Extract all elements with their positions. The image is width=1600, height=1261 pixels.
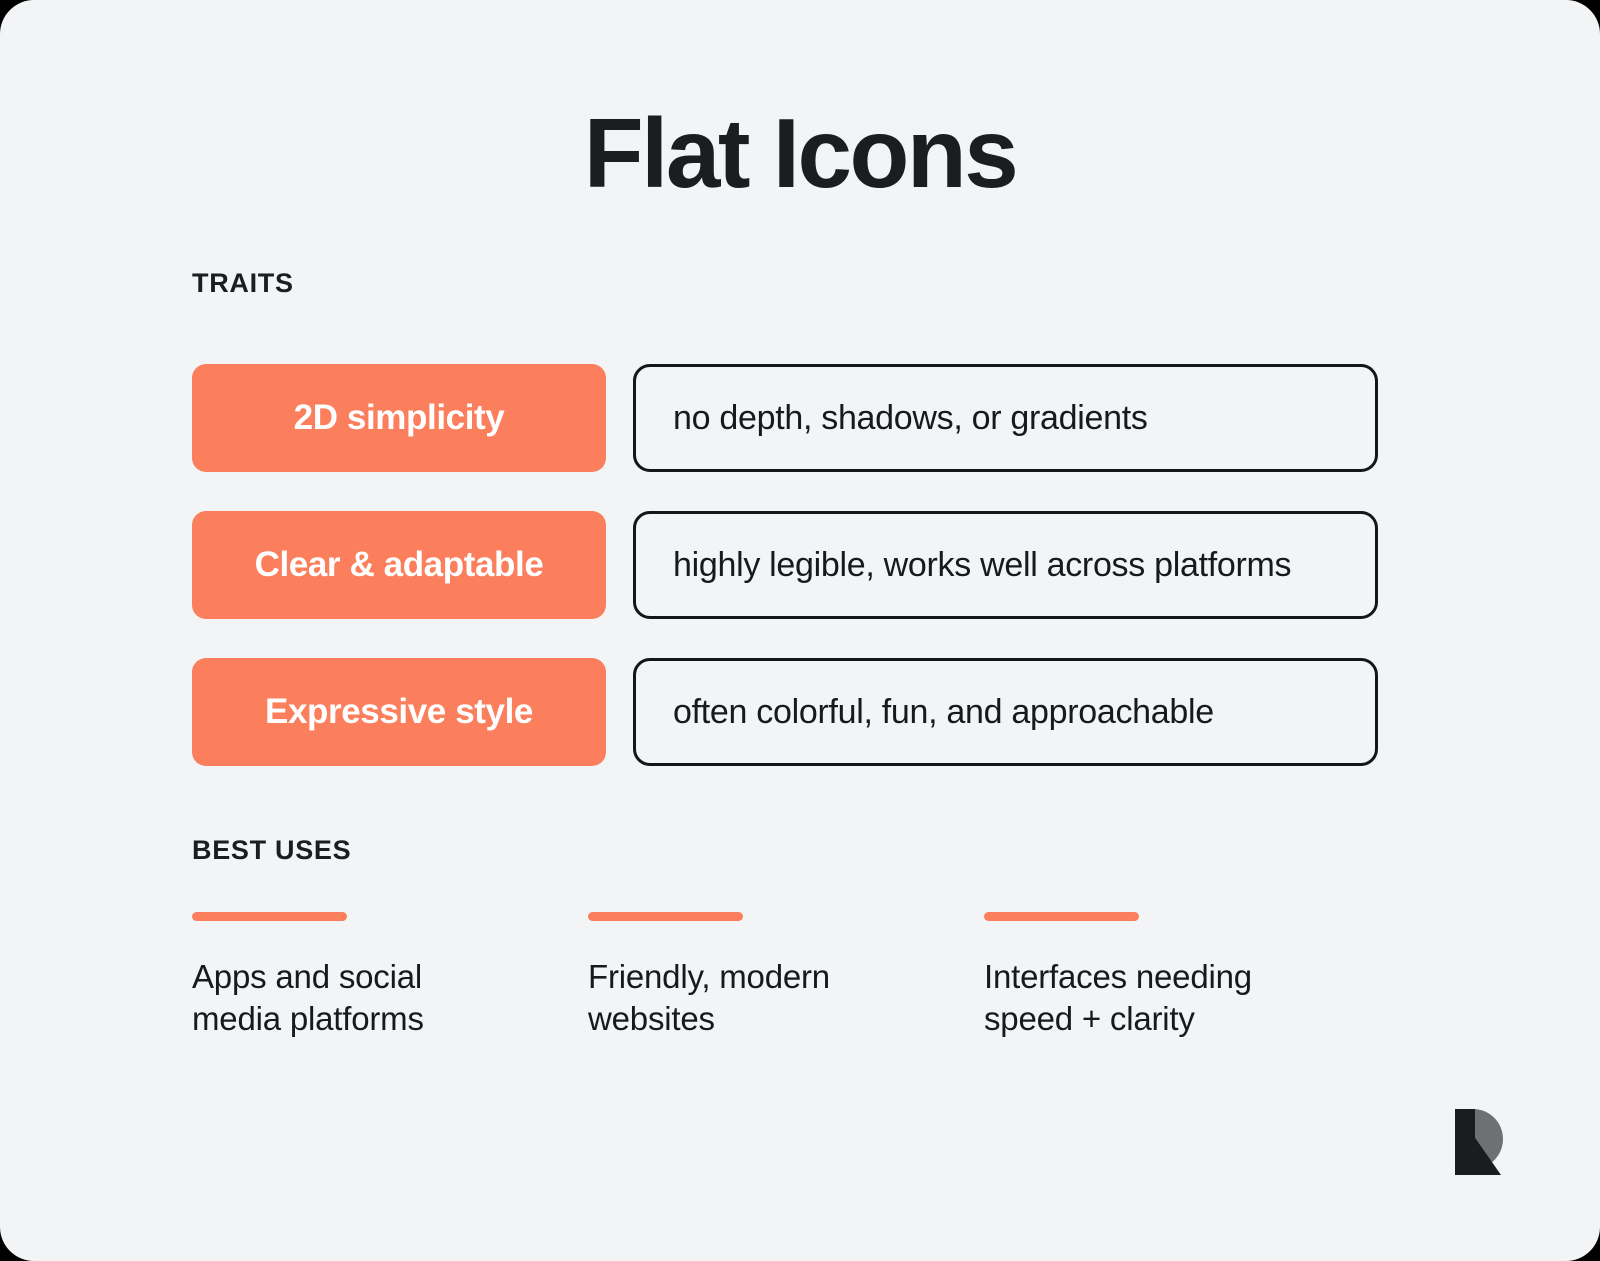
trait-description-label: highly legible, works well across platfo… — [673, 545, 1291, 585]
trait-term-pill[interactable]: Clear & adaptable — [192, 511, 606, 619]
accent-bar-divider — [984, 912, 1139, 921]
best-use-item: Friendly, modern websites — [588, 912, 984, 1040]
trait-term-pill[interactable]: 2D simplicity — [192, 364, 606, 472]
trait-term-label: 2D simplicity — [294, 398, 505, 438]
best-use-label: Apps and social media platforms — [192, 956, 542, 1040]
best-use-label: Interfaces needing speed + clarity — [984, 956, 1334, 1040]
row-spacer — [606, 658, 633, 766]
trait-description-label: no depth, shadows, or gradients — [673, 398, 1148, 438]
row-spacer — [606, 364, 633, 472]
traits-section-label: TRAITS — [192, 268, 294, 299]
row-spacer — [606, 511, 633, 619]
best-uses-section-label: BEST USES — [192, 835, 351, 866]
best-uses-grid: Apps and social media platforms Friendly… — [192, 912, 1382, 1040]
page-title: Flat Icons — [0, 98, 1600, 208]
trait-description-label: often colorful, fun, and approachable — [673, 692, 1214, 732]
traits-list: 2D simplicity no depth, shadows, or grad… — [192, 364, 1378, 766]
accent-bar-divider — [588, 912, 743, 921]
trait-row: 2D simplicity no depth, shadows, or grad… — [192, 364, 1378, 472]
trait-term-label: Clear & adaptable — [255, 545, 544, 585]
trait-description-box: often colorful, fun, and approachable — [633, 658, 1378, 766]
trait-term-label: Expressive style — [265, 692, 533, 732]
infographic-card: Flat Icons TRAITS 2D simplicity no depth… — [0, 0, 1600, 1261]
best-use-item: Interfaces needing speed + clarity — [984, 912, 1380, 1040]
brand-logo-icon — [1443, 1105, 1509, 1177]
trait-description-box: highly legible, works well across platfo… — [633, 511, 1378, 619]
trait-term-pill[interactable]: Expressive style — [192, 658, 606, 766]
best-use-label: Friendly, modern websites — [588, 956, 938, 1040]
trait-row: Clear & adaptable highly legible, works … — [192, 511, 1378, 619]
accent-bar-divider — [192, 912, 347, 921]
trait-row: Expressive style often colorful, fun, an… — [192, 658, 1378, 766]
trait-description-box: no depth, shadows, or gradients — [633, 364, 1378, 472]
best-use-item: Apps and social media platforms — [192, 912, 588, 1040]
